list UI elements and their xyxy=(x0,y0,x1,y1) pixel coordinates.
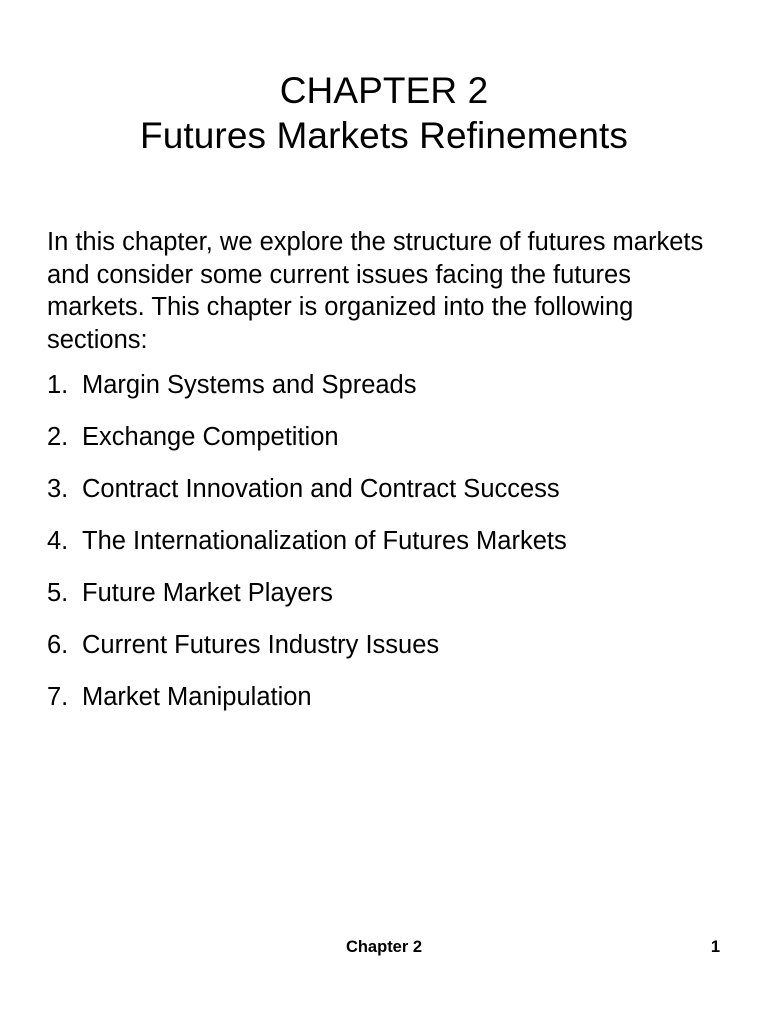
list-item: 4. The Internationalization of Futures M… xyxy=(47,526,727,578)
list-item: 3. Contract Innovation and Contract Succ… xyxy=(47,474,727,526)
list-item: 7. Market Manipulation xyxy=(47,682,727,734)
list-item: 2. Exchange Competition xyxy=(47,422,727,474)
list-item-number: 1. xyxy=(47,370,82,400)
list-item: 1. Margin Systems and Spreads xyxy=(47,370,727,422)
list-item-number: 3. xyxy=(47,474,82,504)
footer-chapter-label: Chapter 2 xyxy=(0,936,768,958)
list-item-label: The Internationalization of Futures Mark… xyxy=(82,526,727,556)
list-item: 6. Current Futures Industry Issues xyxy=(47,630,727,682)
list-item-number: 4. xyxy=(47,526,82,556)
intro-paragraph: In this chapter, we explore the structur… xyxy=(47,226,715,356)
slide-title: CHAPTER 2 Futures Markets Refinements xyxy=(0,68,768,158)
title-line-1: CHAPTER 2 xyxy=(0,68,768,113)
list-item-label: Market Manipulation xyxy=(82,682,727,712)
list-item-label: Exchange Competition xyxy=(82,422,727,452)
list-item-label: Future Market Players xyxy=(82,578,727,608)
slide-footer: Chapter 2 1 xyxy=(0,936,768,962)
list-item-number: 5. xyxy=(47,578,82,608)
slide-page: CHAPTER 2 Futures Markets Refinements In… xyxy=(0,0,768,1024)
list-item: 5. Future Market Players xyxy=(47,578,727,630)
list-item-label: Current Futures Industry Issues xyxy=(82,630,727,660)
list-item-number: 7. xyxy=(47,682,82,712)
sections-list: 1. Margin Systems and Spreads 2. Exchang… xyxy=(47,370,727,734)
footer-page-number: 1 xyxy=(711,936,720,958)
list-item-label: Contract Innovation and Contract Success xyxy=(82,474,727,504)
list-item-number: 6. xyxy=(47,630,82,660)
list-item-label: Margin Systems and Spreads xyxy=(82,370,727,400)
list-item-number: 2. xyxy=(47,422,82,452)
title-line-2: Futures Markets Refinements xyxy=(0,113,768,158)
